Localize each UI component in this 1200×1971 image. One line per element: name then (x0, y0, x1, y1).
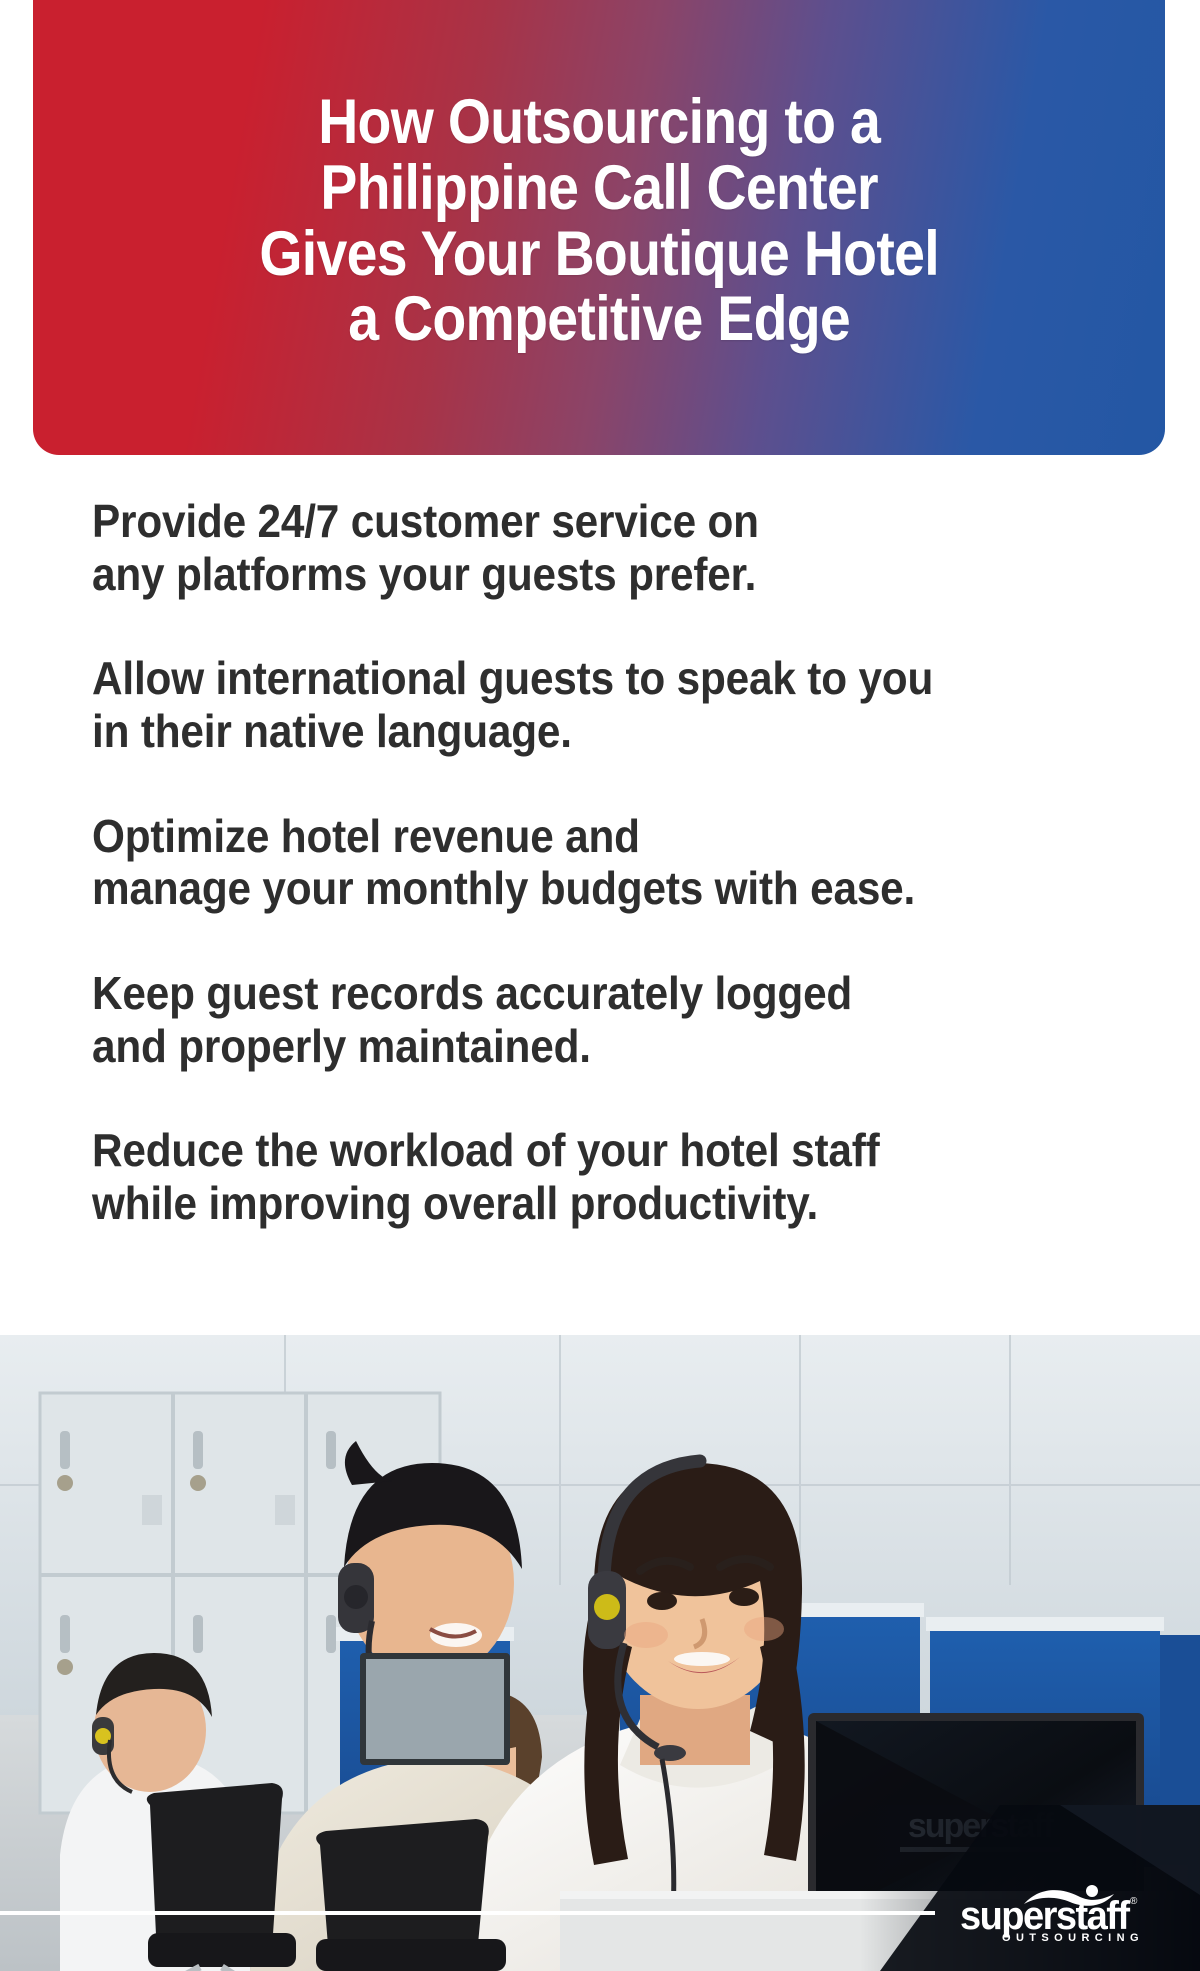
call-center-photo: superstaff (0, 1335, 1200, 1971)
benefit-item-3: Optimize hotel revenue and manage your m… (92, 810, 1067, 915)
logo-subtitle: OUTSOURCING (1002, 1933, 1144, 1944)
computer-monitor-secondary (360, 1653, 510, 1765)
logo-wordmark: superstaff (960, 1896, 1129, 1936)
footer-divider-rule (0, 1911, 935, 1915)
header-banner: How Outsourcing to a Philippine Call Cen… (33, 0, 1165, 455)
superstaff-logo: superstaff ® OUTSOURCING (960, 1888, 1156, 1950)
infographic-page: How Outsourcing to a Philippine Call Cen… (0, 0, 1200, 1971)
benefits-list: Provide 24/7 customer service on any pla… (92, 495, 1152, 1230)
page-title: How Outsourcing to a Philippine Call Cen… (259, 90, 939, 353)
benefit-item-2: Allow international guests to speak to y… (92, 652, 1067, 757)
benefit-item-1: Provide 24/7 customer service on any pla… (92, 495, 1067, 600)
benefit-item-5: Reduce the workload of your hotel staff … (92, 1124, 1067, 1229)
photo-illustration: superstaff (0, 1335, 1200, 1971)
logo-registered-mark: ® (1130, 1896, 1137, 1907)
benefit-item-4: Keep guest records accurately logged and… (92, 967, 1067, 1072)
